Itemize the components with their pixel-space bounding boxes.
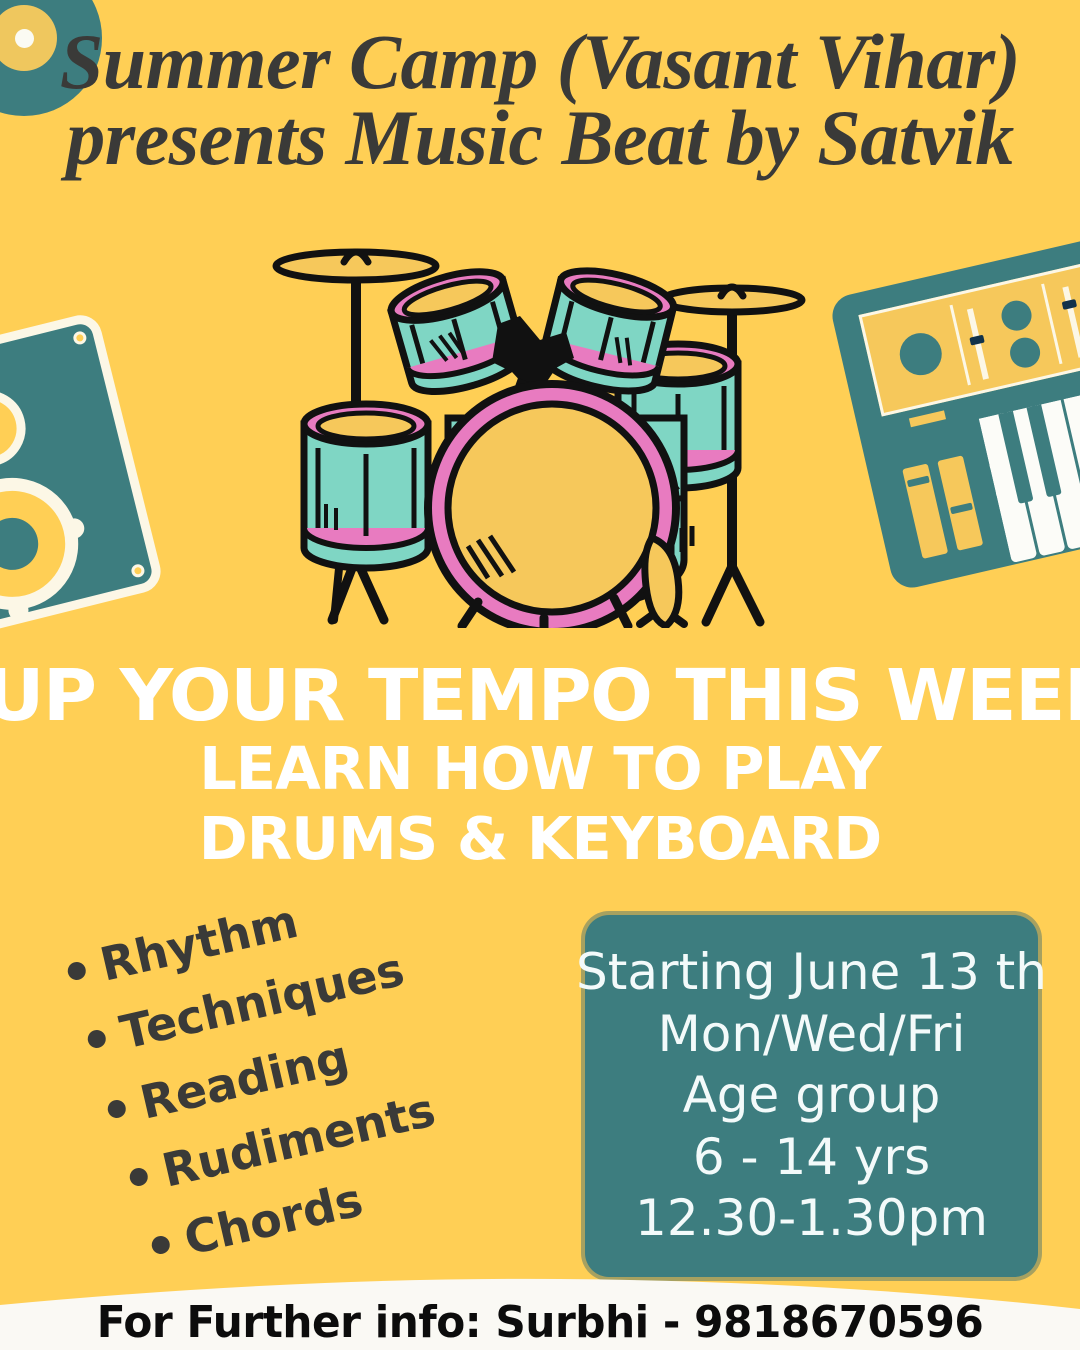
synth-slider-knob <box>969 335 984 346</box>
footer-contact-text: For Further info: Surbhi - 9818670596 <box>22 1297 1059 1348</box>
bullet-dot-icon <box>106 1098 128 1120</box>
speaker-icon <box>0 311 165 641</box>
bullet-dot-icon <box>66 960 88 982</box>
info-line-days: Mon/Wed/Fri <box>658 1004 966 1066</box>
poster-canvas: Summer Camp (Vasant Vihar) presents Musi… <box>0 0 1080 1350</box>
headline-line-2: LEARN HOW TO PLAY <box>0 737 1080 801</box>
info-line-start-date: Starting June 13 th <box>576 942 1047 1004</box>
bullet-dot-icon <box>128 1166 150 1188</box>
info-line-age-range: 6 - 14 yrs <box>693 1127 930 1189</box>
headline-line-3: DRUMS & KEYBOARD <box>0 807 1080 871</box>
headline-block: UP YOUR TEMPO THIS WEEK LEARN HOW TO PLA… <box>0 660 1080 870</box>
synth-knob <box>999 298 1035 334</box>
synth-knob <box>1007 335 1043 371</box>
skills-bullet-list: Rhythm Techniques Reading Rudiments Chor… <box>60 920 530 1280</box>
info-line-age-label: Age group <box>683 1065 941 1127</box>
schedule-info-box: Starting June 13 th Mon/Wed/Fri Age grou… <box>585 915 1038 1277</box>
headline-line-1: UP YOUR TEMPO THIS WEEK <box>0 660 1080 731</box>
keyboard-synth-icon <box>828 232 1080 592</box>
synth-knob <box>896 329 946 379</box>
info-line-time: 12.30-1.30pm <box>635 1188 988 1250</box>
page-title: Summer Camp (Vasant Vihar) presents Musi… <box>0 24 1080 177</box>
bullet-dot-icon <box>150 1234 172 1256</box>
bullet-dot-icon <box>86 1028 108 1050</box>
drum-kit-icon <box>262 228 822 628</box>
synth-slider-track <box>1062 286 1080 358</box>
synth-slider-knob <box>1062 299 1077 310</box>
